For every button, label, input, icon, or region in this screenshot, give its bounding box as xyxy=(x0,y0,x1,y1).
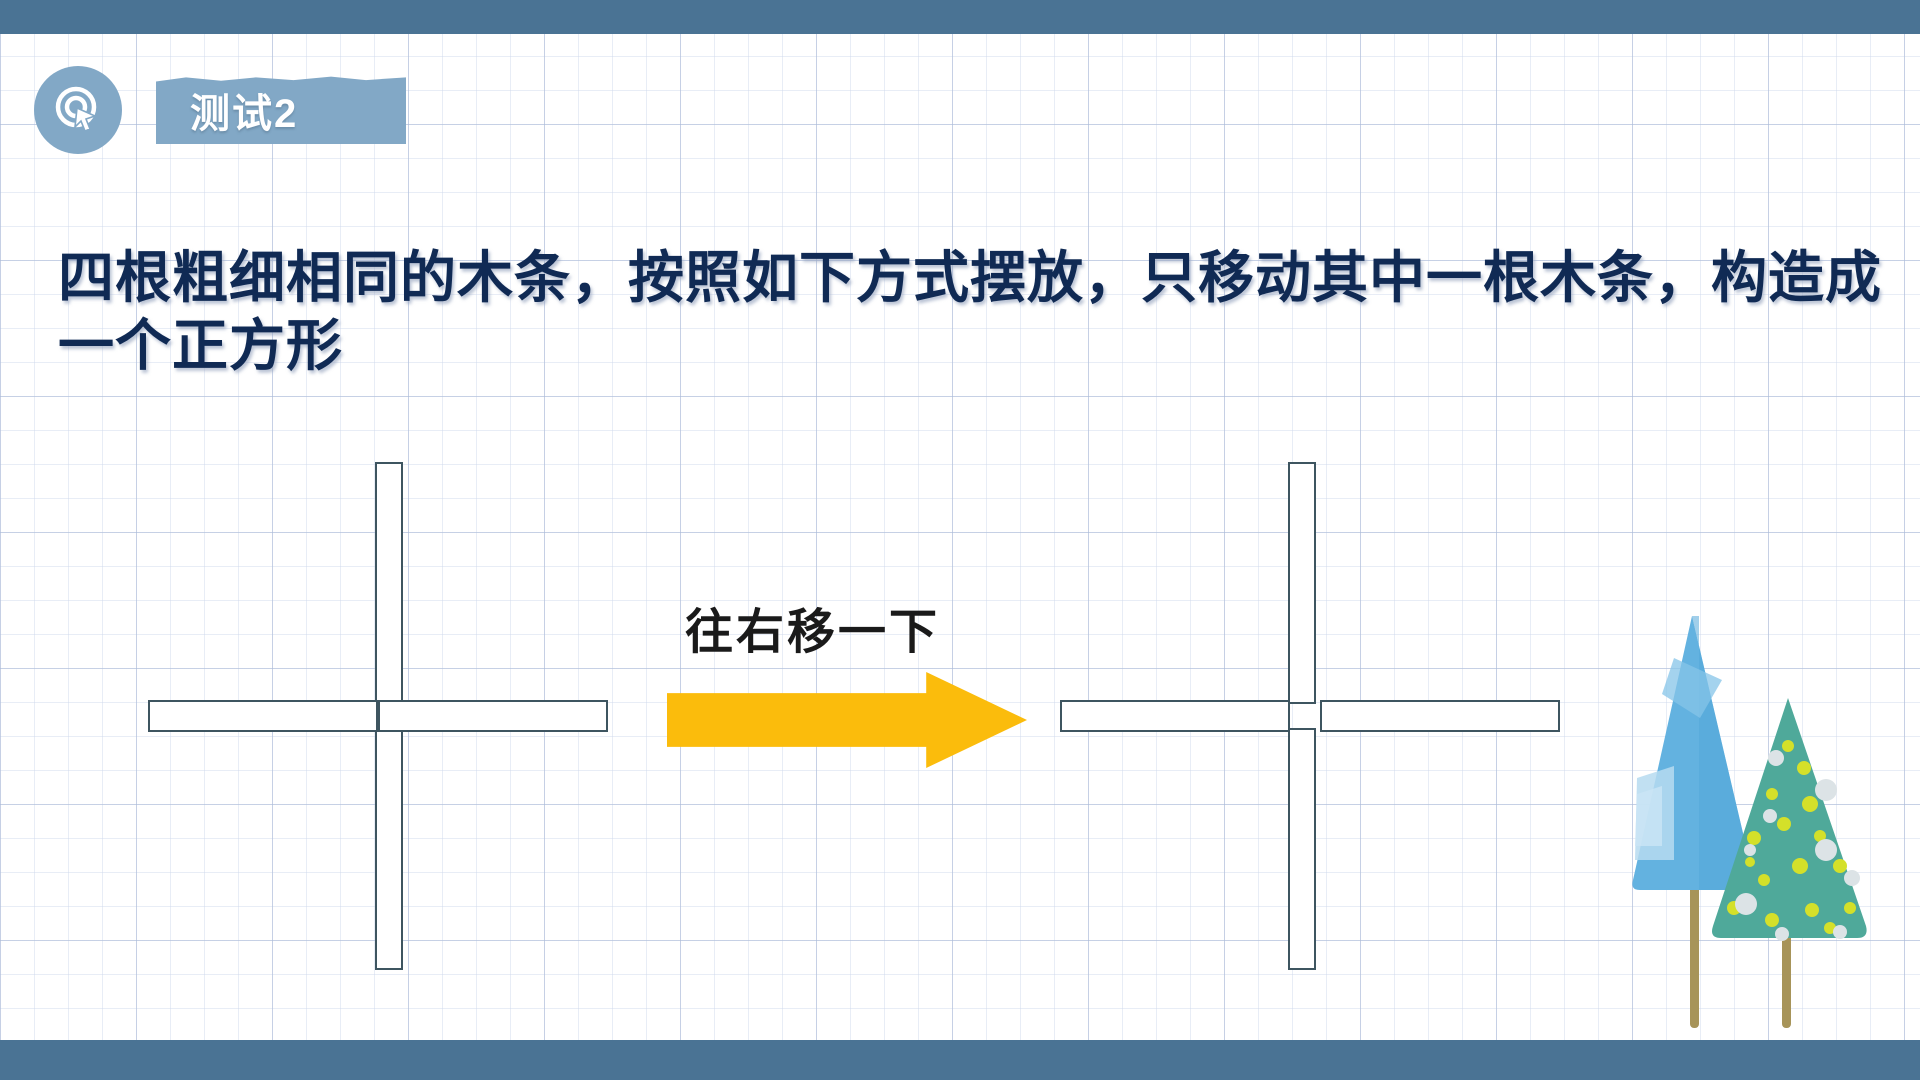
decorative-trees xyxy=(1604,598,1904,1038)
right-vertical-bottom-stick xyxy=(1288,728,1316,970)
badge-label: 测试2 xyxy=(190,81,298,139)
bottom-accent-bar xyxy=(0,1040,1920,1080)
right-vertical-top-stick xyxy=(1288,462,1316,704)
right-horizontal-right-stick-shifted xyxy=(1320,700,1560,732)
blue-pine-tree xyxy=(1632,616,1754,890)
right-horizontal-left-stick xyxy=(1060,700,1290,732)
left-vertical-top-stick xyxy=(375,462,403,704)
left-horizontal-right-stick xyxy=(378,700,608,732)
problem-line-1: 四根粗细相同的木条，按照如下方式摆放，只移动其中一根木条，构造成 xyxy=(58,245,1878,313)
page-title: 四根粗细相同的木条，按照如下方式摆放，只移动其中一根木条，构造成 一个正方形 xyxy=(58,245,1878,382)
problem-line-2: 一个正方形 xyxy=(58,313,1878,381)
header-badge: 测试2 xyxy=(34,66,406,154)
badge-ribbon: 测试2 xyxy=(156,76,406,144)
left-vertical-bottom-stick xyxy=(375,728,403,970)
top-accent-bar xyxy=(0,0,1920,34)
left-horizontal-left-stick xyxy=(148,700,378,732)
move-instruction-label: 往右移一下 xyxy=(685,592,940,662)
target-click-icon xyxy=(34,66,122,154)
